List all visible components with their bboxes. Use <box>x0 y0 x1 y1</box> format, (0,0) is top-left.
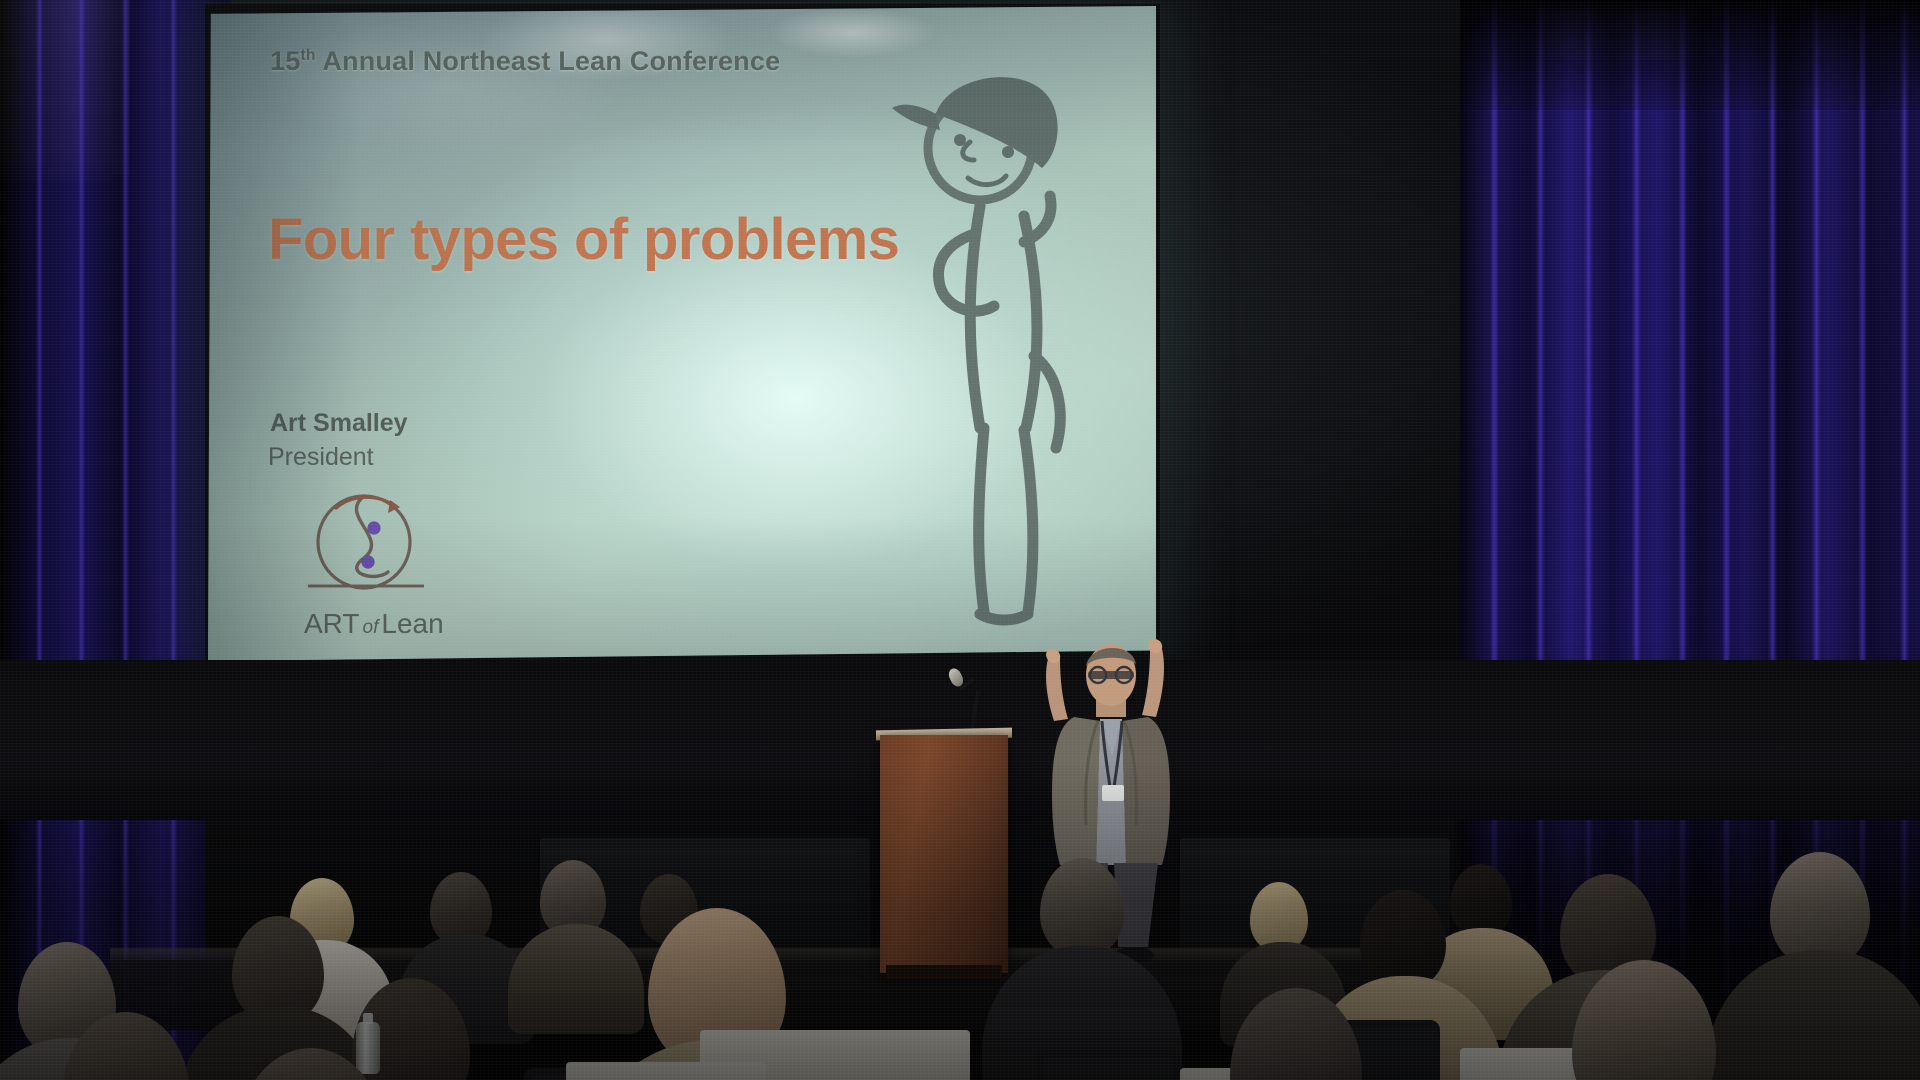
logo-word-art: ART <box>304 608 360 639</box>
curtain-top-shading <box>1460 0 1920 110</box>
water-bottle <box>356 1022 380 1074</box>
audience-head <box>1450 864 1512 938</box>
yin-yang-circle-icon <box>264 486 464 616</box>
slide-presenter-name: Art Smalley <box>270 409 408 438</box>
banquet-table <box>566 1062 766 1080</box>
slide-title: Four types of problems <box>268 206 899 273</box>
slide-header-text: Annual Northeast Lean Conference <box>316 46 781 76</box>
logo-word-lean: Lean <box>381 608 443 639</box>
stick-figure-icon <box>828 56 1128 656</box>
audience-head <box>1040 858 1124 958</box>
projection-screen: 15th Annual Northeast Lean Conference Fo… <box>208 6 1156 661</box>
art-of-lean-wordmark: ARTofLean <box>304 608 444 640</box>
conference-photo-scene: 15th Annual Northeast Lean Conference Fo… <box>0 0 1920 1080</box>
audience-head <box>1360 890 1446 990</box>
slide-presenter-role: President <box>268 443 374 472</box>
audience-shoulders <box>508 924 644 1034</box>
logo-word-of: of <box>360 617 382 638</box>
art-of-lean-logo: ARTofLean <box>264 486 464 636</box>
audience <box>0 800 1920 1080</box>
slide-header: 15th Annual Northeast Lean Conference <box>270 46 780 77</box>
audience-shoulders <box>1706 950 1920 1080</box>
slide-header-number: 15 <box>270 46 300 76</box>
chair-back <box>1036 1050 1180 1080</box>
slide-header-ordinal: th <box>300 47 315 64</box>
stick-figure-illustration <box>828 56 1128 656</box>
